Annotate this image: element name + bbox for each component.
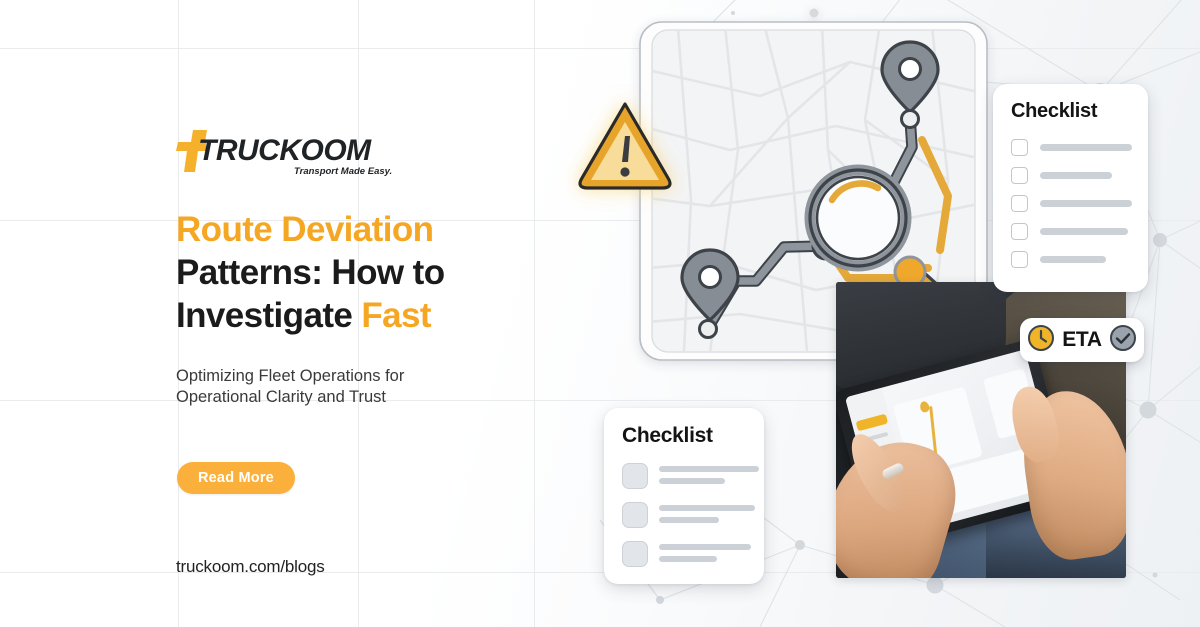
- checklist-title: Checklist: [622, 424, 750, 448]
- eta-badge[interactable]: ETA: [1020, 318, 1144, 362]
- checkbox-icon[interactable]: [622, 502, 648, 528]
- checklist-item-bar: [659, 505, 755, 511]
- checklist-row[interactable]: [622, 501, 750, 528]
- checkbox-icon[interactable]: [1011, 139, 1028, 156]
- checklist-item-bar: [1040, 228, 1128, 235]
- checklist-row[interactable]: [622, 462, 750, 489]
- checklist-item-bar: [1040, 144, 1132, 151]
- subtitle-line-2: Operational Clarity and Trust: [176, 387, 496, 408]
- checkbox-icon[interactable]: [1011, 223, 1028, 240]
- checklist-item-lines: [659, 501, 755, 523]
- checkbox-icon[interactable]: [622, 463, 648, 489]
- logo-mark: TRUCKOOM Transport Made Easy.: [176, 126, 426, 178]
- checklist-row[interactable]: [1011, 223, 1132, 240]
- footer-url: truckoom.com/blogs: [176, 557, 325, 577]
- clock-icon: [1027, 324, 1055, 357]
- checklist-row[interactable]: [1011, 251, 1132, 268]
- checklist-row[interactable]: [1011, 139, 1132, 156]
- checkbox-icon[interactable]: [1011, 167, 1028, 184]
- subtitle-line-1: Optimizing Fleet Operations for: [176, 366, 496, 387]
- checklist-card-top[interactable]: Checklist: [993, 84, 1148, 292]
- checklist-item-bar: [659, 544, 751, 550]
- headline-line-3-plain: Investigate: [176, 296, 361, 335]
- checkbox-icon[interactable]: [1011, 195, 1028, 212]
- checklist-card-bottom[interactable]: Checklist: [604, 408, 764, 584]
- check-circle-icon: [1109, 324, 1137, 357]
- checklist-row[interactable]: [622, 540, 750, 567]
- page-subtitle: Optimizing Fleet Operations for Operatio…: [176, 366, 496, 408]
- checklist-item-bar: [659, 517, 719, 523]
- checklist-row[interactable]: [1011, 195, 1132, 212]
- blog-banner: Checklist Checklist: [0, 0, 1200, 627]
- headline-line-3-accent: Fast: [361, 296, 431, 335]
- checklist-item-lines: [659, 462, 759, 484]
- checklist-item-bar: [1040, 172, 1112, 179]
- text-content-column: TRUCKOOM Transport Made Easy. Route Devi…: [176, 0, 576, 627]
- headline-line-3: Investigate Fast: [176, 294, 516, 337]
- checklist-title: Checklist: [1011, 100, 1132, 123]
- headline-line-1: Route Deviation: [176, 208, 516, 251]
- read-more-button[interactable]: Read More: [177, 462, 295, 494]
- checkbox-icon[interactable]: [1011, 251, 1028, 268]
- logo-tagline: Transport Made Easy.: [294, 166, 392, 177]
- checklist-row[interactable]: [1011, 167, 1132, 184]
- checklist-item-bar: [1040, 256, 1106, 263]
- logo-wordmark: TRUCKOOM: [198, 134, 372, 167]
- headline-line-2: Patterns: How to: [176, 251, 516, 294]
- checklist-item-bar: [1040, 200, 1132, 207]
- checklist-item-lines: [659, 540, 751, 562]
- page-title: Route Deviation Patterns: How to Investi…: [176, 208, 516, 337]
- checklist-item-bar: [659, 556, 717, 562]
- truckoom-logo[interactable]: TRUCKOOM Transport Made Easy.: [176, 126, 426, 178]
- eta-label: ETA: [1062, 328, 1102, 352]
- checkbox-icon[interactable]: [622, 541, 648, 567]
- checklist-item-bar: [659, 466, 759, 472]
- checklist-item-bar: [659, 478, 725, 484]
